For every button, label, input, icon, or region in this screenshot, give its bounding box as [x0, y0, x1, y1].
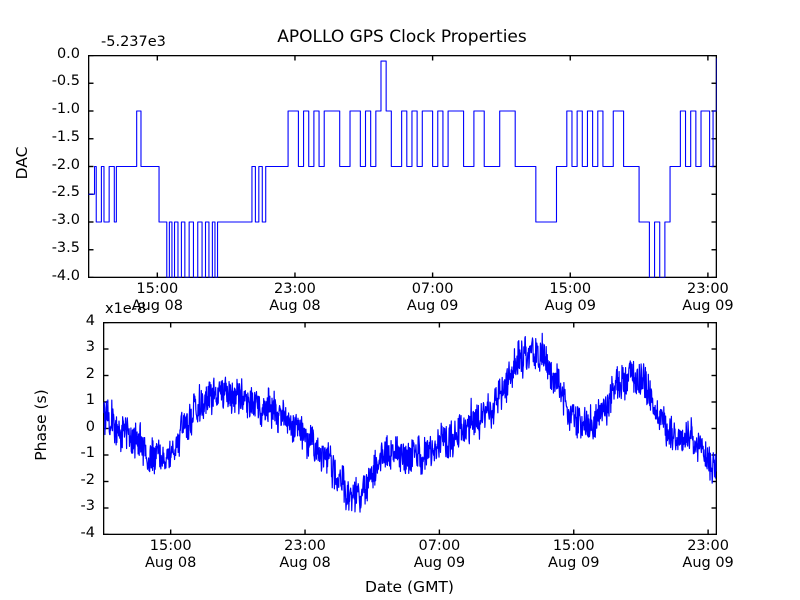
x-tick-label: 23:00Aug 09: [658, 538, 758, 572]
y-tick-label: -1: [43, 445, 95, 461]
x-tick-label: 15:00Aug 09: [524, 538, 624, 572]
x-tick-date: Aug 09: [414, 555, 465, 571]
dac-y-offset-label: -5.237e3: [101, 34, 166, 50]
y-tick-label: -4: [43, 525, 95, 541]
phase-y-offset-label: x1e-8: [105, 301, 146, 317]
phase-plot-area[interactable]: [103, 322, 717, 535]
y-tick-label: -3.5: [28, 240, 80, 256]
y-tick-label: -3.0: [28, 212, 80, 228]
x-tick-time: 07:00: [412, 281, 454, 297]
x-tick-date: Aug 08: [269, 298, 320, 314]
x-tick-date: Aug 09: [407, 298, 458, 314]
matplotlib-figure: APOLLO GPS Clock Properties -5.237e3 DAC…: [0, 0, 800, 600]
x-tick-time: 23:00: [687, 538, 729, 554]
x-axis-label: Date (GMT): [103, 578, 716, 596]
y-tick-label: 0: [43, 419, 95, 435]
x-tick-time: 15:00: [136, 281, 178, 297]
x-tick-time: 07:00: [418, 538, 460, 554]
page-title: APOLLO GPS Clock Properties: [88, 27, 716, 47]
x-tick-date: Aug 09: [545, 298, 596, 314]
y-tick-label: 1: [43, 392, 95, 408]
x-tick-time: 23:00: [274, 281, 316, 297]
x-tick-label: 23:00Aug 09: [658, 281, 758, 315]
x-tick-time: 23:00: [687, 281, 729, 297]
x-tick-time: 15:00: [553, 538, 595, 554]
x-tick-date: Aug 08: [279, 555, 330, 571]
x-tick-date: Aug 08: [145, 555, 196, 571]
x-tick-date: Aug 09: [682, 555, 733, 571]
x-tick-label: 15:00Aug 08: [121, 538, 221, 572]
x-tick-time: 15:00: [549, 281, 591, 297]
y-tick-label: -1.0: [28, 101, 80, 117]
x-tick-label: 23:00Aug 08: [245, 281, 345, 315]
y-tick-label: 2: [43, 366, 95, 382]
x-tick-time: 23:00: [284, 538, 326, 554]
y-tick-label: -4.0: [28, 268, 80, 284]
y-tick-label: -3: [43, 498, 95, 514]
x-tick-label: 07:00Aug 09: [389, 538, 489, 572]
y-tick-label: -2: [43, 472, 95, 488]
x-tick-label: 15:00Aug 09: [520, 281, 620, 315]
x-tick-label: 23:00Aug 08: [255, 538, 355, 572]
x-tick-date: Aug 09: [548, 555, 599, 571]
y-tick-label: 3: [43, 339, 95, 355]
x-tick-time: 15:00: [150, 538, 192, 554]
y-tick-label: -2.5: [28, 184, 80, 200]
y-tick-label: -2.0: [28, 157, 80, 173]
y-tick-label: -1.5: [28, 129, 80, 145]
x-tick-date: Aug 09: [682, 298, 733, 314]
y-tick-label: -0.5: [28, 73, 80, 89]
y-tick-label: 4: [43, 313, 95, 329]
y-tick-label: 0.0: [28, 46, 80, 62]
x-tick-label: 07:00Aug 09: [383, 281, 483, 315]
dac-plot-area[interactable]: [88, 55, 717, 278]
